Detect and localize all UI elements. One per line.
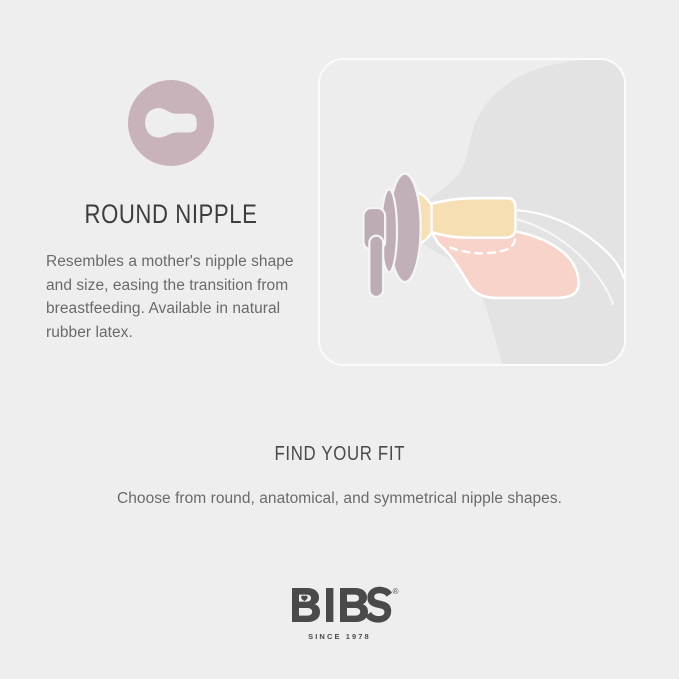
bibs-wordmark-glyphs (288, 586, 392, 624)
feature-description: Resembles a mother's nipple shape and si… (46, 250, 296, 344)
pacifier-handle (363, 208, 385, 297)
product-feature-panel: ROUND NIPPLE Resembles a mother's nipple… (0, 0, 679, 679)
feature-column: ROUND NIPPLE Resembles a mother's nipple… (46, 80, 296, 344)
round-nipple-icon (128, 80, 214, 166)
bibs-wordmark: ® (288, 586, 392, 624)
brand-tagline: SINCE 1978 (0, 632, 679, 641)
find-your-fit-section: FIND YOUR FIT Choose from round, anatomi… (0, 444, 679, 510)
find-your-fit-subtitle: Choose from round, anatomical, and symme… (0, 487, 679, 510)
brand-logo: ® SINCE 1978 (0, 586, 679, 641)
baby-head-profile-with-pacifier-diagram (320, 60, 624, 364)
round-nipple-icon-cutout (144, 106, 198, 140)
pacifier-nipple-shape (431, 198, 516, 237)
feature-title: ROUND NIPPLE (69, 201, 274, 228)
find-your-fit-title: FIND YOUR FIT (274, 444, 405, 464)
registered-trademark-symbol: ® (393, 587, 399, 596)
illustration-card (318, 58, 626, 366)
